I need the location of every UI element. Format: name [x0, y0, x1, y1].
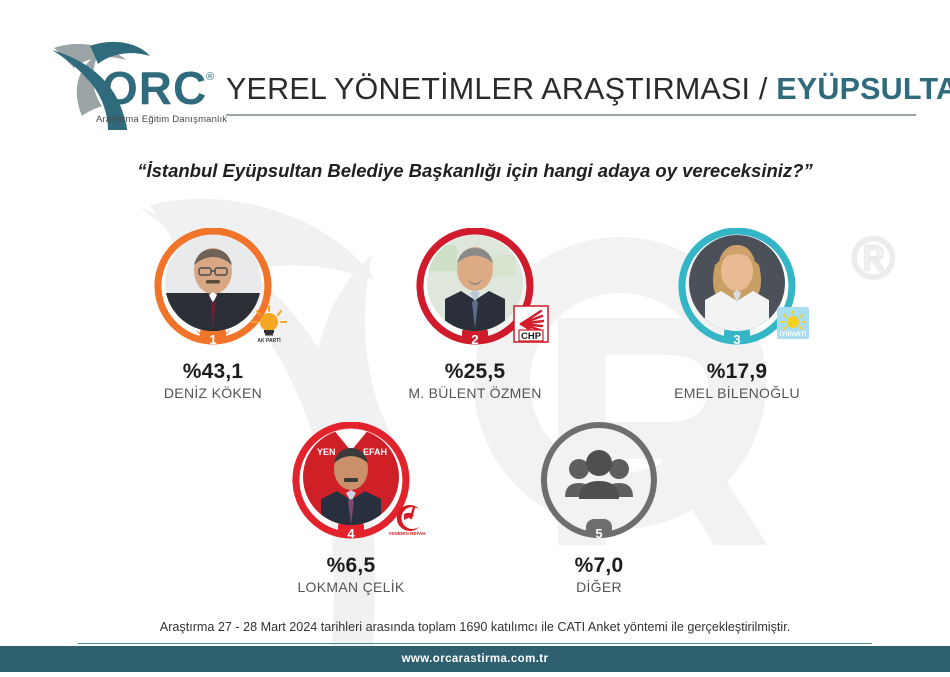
- candidate-card-3[interactable]: 3 İYİPARTİ %17: [642, 228, 832, 401]
- svg-text:YENİDEN REFAH: YENİDEN REFAH: [388, 530, 426, 536]
- candidate-rank-2: 2: [471, 332, 478, 347]
- svg-text:®: ®: [206, 71, 214, 83]
- page-title: YEREL YÖNETİMLER ARAŞTIRMASI / EYÜPSULTA…: [226, 72, 916, 107]
- candidate-photo-4: YEN EFAH: [303, 429, 399, 525]
- svg-text:AK PARTİ: AK PARTİ: [257, 337, 281, 344]
- candidate-pin-5: 5: [504, 422, 694, 550]
- page-title-highlight: EYÜPSULTAN: [776, 72, 950, 106]
- candidate-percent-5: %7,0: [504, 554, 694, 578]
- svg-text:EFAH: EFAH: [363, 447, 387, 457]
- candidate-pin-4: YEN EFAH 4 YENİDEN REFAH: [256, 422, 446, 550]
- party-logo-chp: CHP: [511, 304, 551, 344]
- candidate-card-2[interactable]: 2 CHP %25,5 M. BÜLENT Ö: [380, 228, 570, 401]
- candidate-percent-4: %6,5: [256, 554, 446, 578]
- candidate-name-4: LOKMAN ÇELİK: [256, 579, 446, 595]
- candidate-pin-1: 1 AK PARTİ: [118, 228, 308, 356]
- candidate-rank-4: 4: [347, 526, 354, 541]
- party-logo-yeniden-refah: YENİDEN REFAH: [387, 498, 427, 538]
- candidate-percent-3: %17,9: [642, 360, 832, 384]
- candidate-card-4[interactable]: YEN EFAH 4 YENİDEN REFAH: [256, 422, 446, 595]
- page-title-main: YEREL YÖNETİMLER ARAŞTIRMASI /: [226, 72, 776, 106]
- candidate-pin-2: 2 CHP: [380, 228, 570, 356]
- svg-text:ORC: ORC: [102, 62, 207, 114]
- footer-bar: www.orcarastirma.com.tr: [0, 646, 950, 672]
- candidate-photo-2: [427, 235, 523, 331]
- candidate-photo-3: [689, 235, 785, 331]
- candidate-row-top: 1 AK PARTİ %43,1 DENİZ KÖ: [0, 228, 950, 401]
- candidate-rank-1: 1: [209, 332, 216, 347]
- title-underline: [226, 114, 916, 116]
- survey-question: “İstanbul Eyüpsultan Belediye Başkanlığı…: [0, 160, 950, 182]
- footer-divider: [78, 643, 872, 644]
- svg-text:CHP: CHP: [521, 331, 542, 342]
- candidate-rank-5: 5: [595, 526, 602, 541]
- candidate-card-5[interactable]: 5 %7,0 DİĞER: [504, 422, 694, 595]
- logo-tagline: Araştırma Eğitim Danışmanlık: [96, 114, 227, 125]
- svg-text:YEN: YEN: [317, 447, 336, 457]
- party-logo-akparti: AK PARTİ: [249, 304, 289, 344]
- title-block: YEREL YÖNETİMLER ARAŞTIRMASI / EYÜPSULTA…: [226, 72, 916, 116]
- candidate-name-2: M. BÜLENT ÖZMEN: [380, 385, 570, 401]
- candidate-percent-1: %43,1: [118, 360, 308, 384]
- candidate-percent-2: %25,5: [380, 360, 570, 384]
- candidate-name-5: DİĞER: [504, 579, 694, 595]
- methodology-note: Araştırma 27 - 28 Mart 2024 tarihleri ar…: [0, 620, 950, 634]
- party-logo-iyiparti: İYİPARTİ: [773, 304, 813, 344]
- candidate-name-1: DENİZ KÖKEN: [118, 385, 308, 401]
- orc-logo: ORC ® Araştırma Eğitim Danışmanlık: [46, 30, 226, 130]
- candidate-pin-3: 3 İYİPARTİ: [642, 228, 832, 356]
- candidate-rank-3: 3: [733, 332, 740, 347]
- candidate-name-3: EMEL BİLENOĞLU: [642, 385, 832, 401]
- website-url[interactable]: www.orcarastirma.com.tr: [402, 653, 549, 665]
- people-group-icon: [551, 429, 647, 525]
- candidate-photo-1: [165, 235, 261, 331]
- page-header: ORC ® Araştırma Eğitim Danışmanlık YEREL…: [0, 0, 950, 145]
- candidate-card-1[interactable]: 1 AK PARTİ %43,1 DENİZ KÖ: [118, 228, 308, 401]
- candidate-row-bottom: YEN EFAH 4 YENİDEN REFAH: [0, 422, 950, 595]
- svg-text:İYİPARTİ: İYİPARTİ: [780, 330, 807, 338]
